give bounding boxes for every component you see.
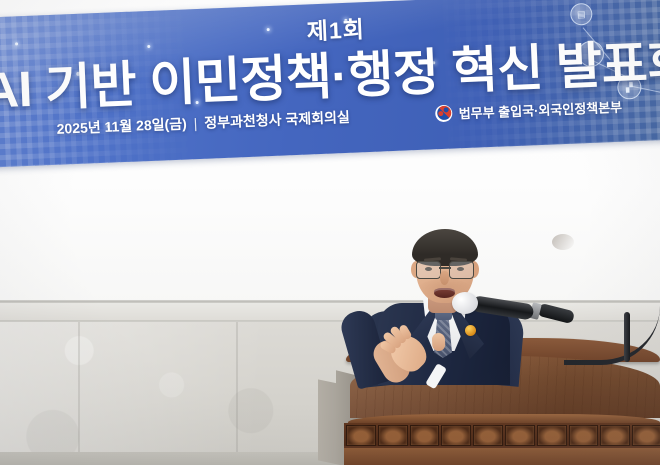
banner-separator: | <box>193 115 197 131</box>
carved-panel <box>441 425 471 446</box>
microphone-stem <box>624 312 630 362</box>
carved-panel <box>569 425 599 446</box>
carved-panel <box>473 425 503 446</box>
hair-highlight <box>552 234 574 250</box>
microphone-body <box>471 295 535 321</box>
lectern-carved-panel-row <box>344 423 660 447</box>
event-banner: ▤ ▮ ▞ ✈ 제1회 AI 기반 이민정책·행정 혁신 발표회 2025년 1… <box>0 0 660 168</box>
glasses-bridge <box>439 267 451 269</box>
korean-government-taegeuk-emblem-icon <box>435 104 453 122</box>
thumb <box>432 333 446 352</box>
lens-left <box>416 261 441 279</box>
event-banner-container: ▤ ▮ ▞ ✈ 제1회 AI 기반 이민정책·행정 혁신 발표회 2025년 1… <box>0 0 660 202</box>
gooseneck-microphone <box>452 286 660 366</box>
carved-panel <box>632 425 660 446</box>
carved-panel <box>346 425 376 446</box>
carved-panel <box>378 425 408 446</box>
microphone-windscreen <box>452 292 478 314</box>
microphone-gooseneck <box>564 306 660 365</box>
carved-panel <box>600 425 630 446</box>
carved-panel <box>410 425 440 446</box>
lectern-base <box>344 446 660 465</box>
nose <box>440 271 449 285</box>
wall-panel-joint <box>78 322 80 465</box>
lens-right <box>449 261 474 279</box>
press-photo-scene: ▤ ▮ ▞ ✈ 제1회 AI 기반 이민정책·행정 혁신 발표회 2025년 1… <box>0 0 660 465</box>
carved-panel <box>505 425 535 446</box>
carved-panel <box>537 425 567 446</box>
wall-panel-joint <box>236 322 238 465</box>
